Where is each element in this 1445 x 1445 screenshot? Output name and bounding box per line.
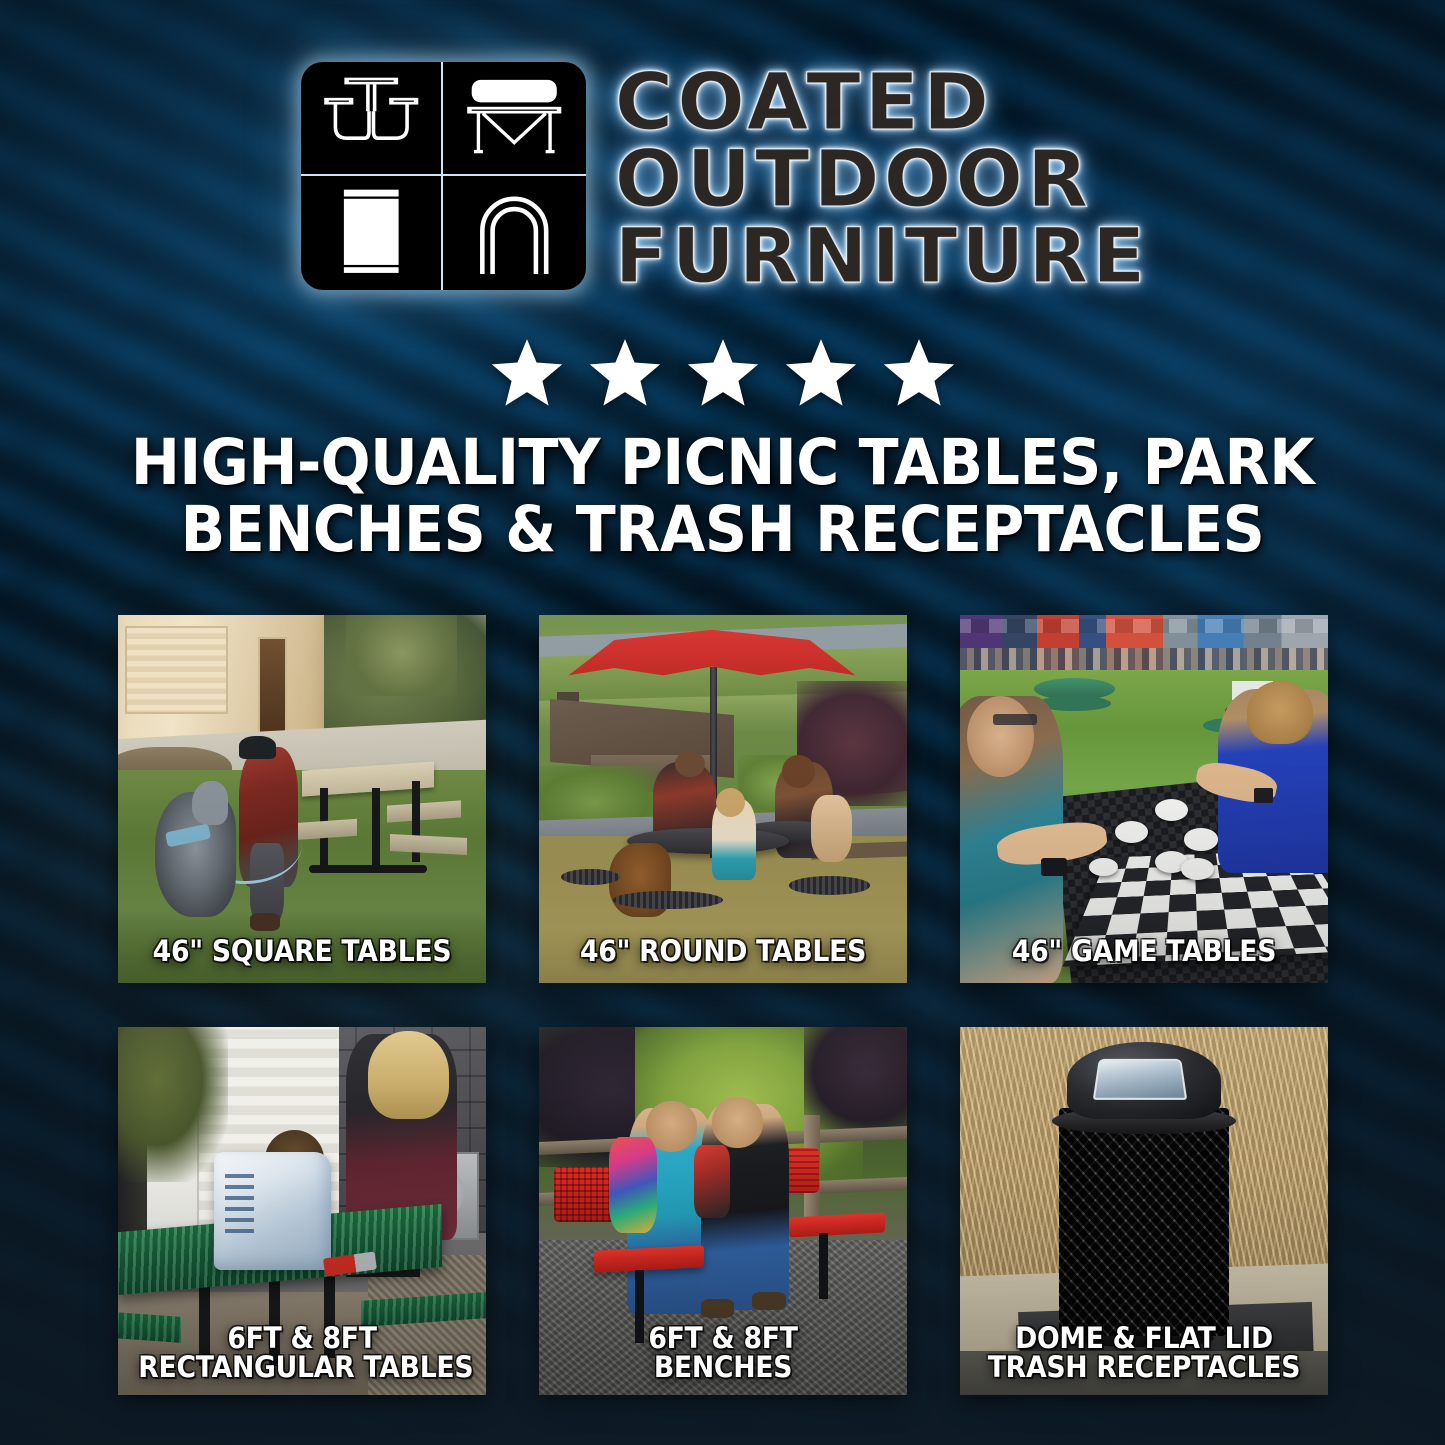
- caption-line-1: 6FT & 8FT: [138, 1324, 466, 1354]
- product-card-game-tables[interactable]: 46" GAME TABLES: [960, 615, 1328, 983]
- caption-line-1: DOME & FLAT LID: [980, 1324, 1308, 1354]
- trash-receptacle-icon: [301, 176, 444, 290]
- brand-name-line-1: COATED: [615, 66, 1150, 141]
- caption-line-1: 46" ROUND TABLES: [559, 937, 887, 967]
- product-photo-game-tables: [960, 615, 1328, 983]
- caption-line-1: 46" SQUARE TABLES: [138, 937, 466, 967]
- star-icon: [881, 336, 957, 410]
- brand-logo: COATED OUTDOOR FURNITURE: [0, 62, 1445, 293]
- headline-line-1: HIGH-QUALITY PICNIC TABLES, PARK: [106, 430, 1338, 497]
- brand-name-line-2: OUTDOOR: [615, 143, 1150, 218]
- caption-line-2: RECTANGULAR TABLES: [138, 1353, 466, 1383]
- product-caption: 46" ROUND TABLES: [559, 937, 887, 967]
- product-caption: DOME & FLAT LID TRASH RECEPTACLES: [980, 1324, 1308, 1383]
- product-grid: 46" SQUARE TABLES 46": [118, 615, 1328, 1395]
- product-card-square-tables[interactable]: 46" SQUARE TABLES: [118, 615, 486, 983]
- caption-line-1: 46" GAME TABLES: [980, 937, 1308, 967]
- product-caption: 46" SQUARE TABLES: [138, 937, 466, 967]
- picnic-table-icon: [301, 62, 444, 176]
- star-rating: [0, 336, 1445, 410]
- bike-rack-icon: [443, 176, 586, 290]
- brand-wordmark: COATED OUTDOOR FURNITURE: [620, 62, 1144, 293]
- headline-line-2: BENCHES & TRASH RECEPTACLES: [106, 497, 1338, 564]
- star-icon: [489, 336, 565, 410]
- star-icon: [587, 336, 663, 410]
- caption-line-2: TRASH RECEPTACLES: [980, 1353, 1308, 1383]
- caption-line-1: 6FT & 8FT: [559, 1324, 887, 1354]
- product-photo-square-tables: [118, 615, 486, 983]
- logo-icon-grid: [301, 62, 586, 290]
- product-photo-round-tables: [539, 615, 907, 983]
- page-headline: HIGH-QUALITY PICNIC TABLES, PARK BENCHES…: [106, 430, 1338, 564]
- product-card-benches[interactable]: 6FT & 8FT BENCHES: [539, 1027, 907, 1395]
- product-card-trash-receptacles[interactable]: DOME & FLAT LID TRASH RECEPTACLES: [960, 1027, 1328, 1395]
- caption-line-2: BENCHES: [559, 1353, 887, 1383]
- product-card-rectangular-tables[interactable]: 6FT & 8FT RECTANGULAR TABLES: [118, 1027, 486, 1395]
- product-caption: 6FT & 8FT RECTANGULAR TABLES: [138, 1324, 466, 1383]
- bench-table-icon: [443, 62, 586, 176]
- brand-name-line-3: FURNITURE: [615, 220, 1150, 293]
- star-icon: [685, 336, 761, 410]
- star-icon: [783, 336, 859, 410]
- product-caption: 6FT & 8FT BENCHES: [559, 1324, 887, 1383]
- product-card-round-tables[interactable]: 46" ROUND TABLES: [539, 615, 907, 983]
- product-caption: 46" GAME TABLES: [980, 937, 1308, 967]
